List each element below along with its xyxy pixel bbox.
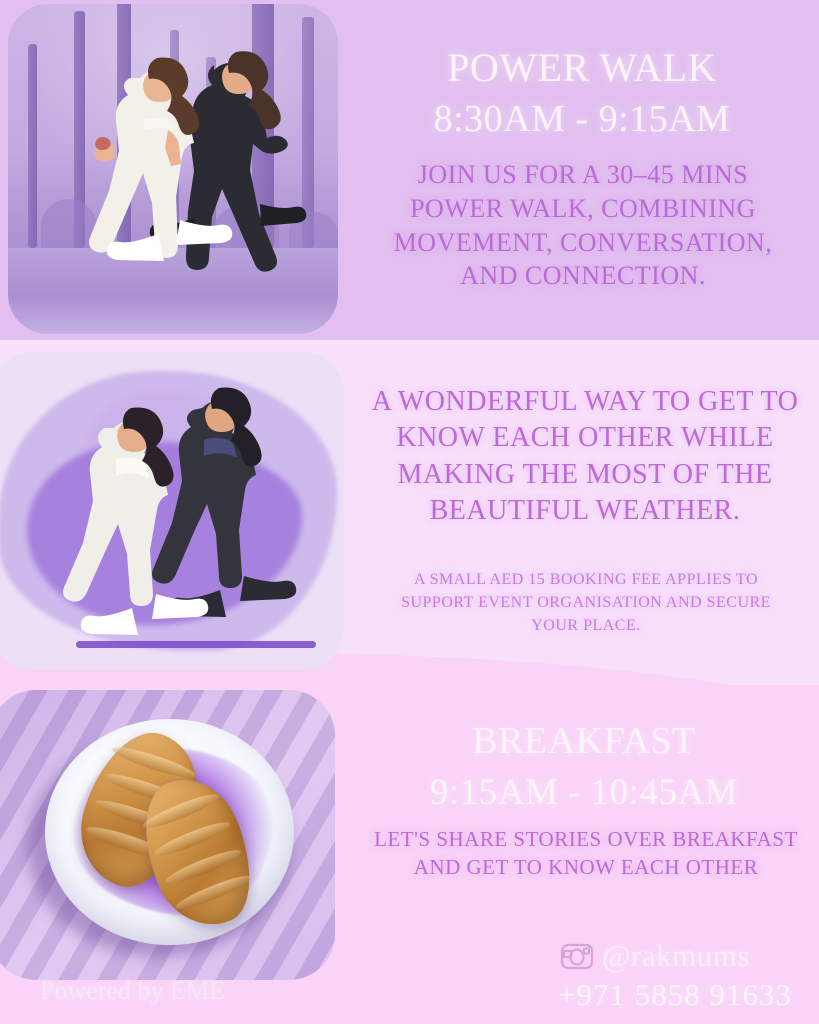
breakfast-time: 9:15AM - 10:45AM — [356, 770, 812, 815]
event-poster: POWER WALK 8:30AM - 9:15AM JOIN US FOR A… — [0, 0, 819, 1024]
power-walk-time: 8:30AM - 9:15AM — [352, 96, 812, 142]
breakfast-description: LET'S SHARE STORIES OVER BREAKFAST AND G… — [366, 825, 806, 882]
power-walk-title: POWER WALK — [352, 44, 812, 93]
phone-number[interactable]: +971 5858 91633 — [540, 977, 810, 1013]
instagram-handle: @rakmums — [602, 938, 750, 974]
instagram-handle-row[interactable]: @rakmums — [560, 938, 810, 974]
power-walk-photo — [8, 4, 338, 334]
instagram-icon — [560, 941, 594, 971]
breakfast-photo — [0, 690, 335, 980]
croissant-illustration — [0, 690, 335, 980]
watercolor-illustration — [0, 352, 344, 670]
power-walk-description: JOIN US FOR A 30–45 MINS POWER WALK, COM… — [368, 158, 798, 293]
breakfast-title: BREAKFAST — [356, 718, 812, 764]
forest-illustration — [8, 4, 338, 334]
powered-by-label: Powered by EME — [40, 976, 225, 1006]
connection-description: A WONDERFUL WAY TO GET TO KNOW EACH OTHE… — [360, 384, 810, 530]
walking-watercolor-photo — [0, 352, 344, 670]
booking-fee-note: A SMALL AED 15 BOOKING FEE APPLIES TO SU… — [382, 568, 790, 638]
